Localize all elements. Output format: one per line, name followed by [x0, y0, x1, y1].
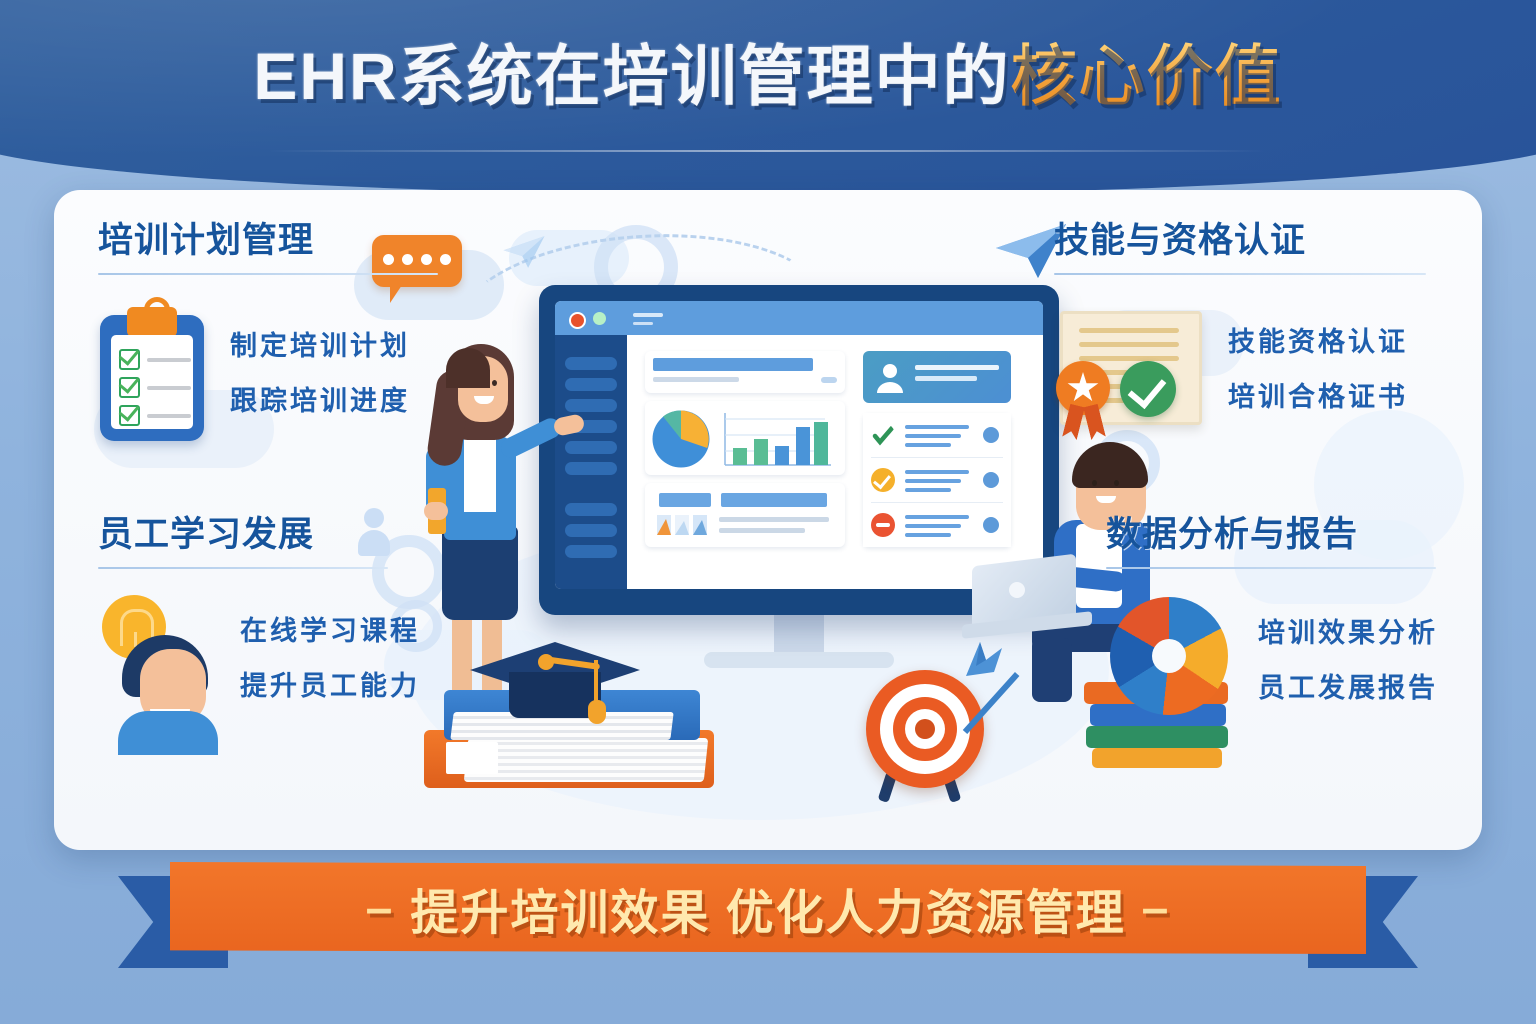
checkbox-checked-icon — [119, 349, 140, 370]
clipboard-line — [147, 358, 191, 362]
award-rosette-icon — [1056, 361, 1110, 415]
thumbnail-icon — [657, 515, 709, 537]
window-dot-close[interactable] — [569, 312, 586, 329]
section-data-analysis: 数据分析与报告 培训效果分析 员工发展报告 — [1106, 506, 1482, 723]
bar-chart — [721, 411, 833, 467]
certificate-line — [1079, 328, 1179, 333]
clipboard-paper — [111, 335, 193, 429]
section-divider — [1106, 567, 1436, 569]
section-bullets: 在线学习课程 提升员工能力 — [240, 609, 420, 703]
row-status-dot — [983, 517, 999, 533]
certificate-line — [1079, 356, 1179, 361]
row-status-dot — [983, 472, 999, 488]
ribbon-dash-left: – — [366, 881, 395, 936]
sidebar-nav-item[interactable] — [565, 399, 617, 412]
dashboard-media-panel — [645, 483, 845, 547]
sidebar-nav-item[interactable] — [565, 524, 617, 537]
section-title: 培训计划管理 — [98, 212, 478, 263]
dashboard-screen — [555, 301, 1043, 589]
section-divider — [98, 567, 388, 569]
clipboard-icon — [100, 315, 204, 441]
target-group — [854, 660, 1014, 830]
sidebar-nav-item[interactable] — [565, 378, 617, 391]
bottom-banner: – 提升培训效果 优化人力资源管理 – — [118, 862, 1418, 968]
page-title-highlight: 核心价值 — [1011, 42, 1283, 111]
section-divider — [98, 273, 438, 275]
clipboard-line — [147, 386, 191, 390]
ribbon-text: 提升培训效果 优化人力资源管理 — [410, 873, 1125, 943]
dashboard-charts-panel — [645, 401, 845, 475]
page-title-main: EHR系统在培训管理中的 — [253, 42, 1010, 111]
section-title: 员工学习发展 — [98, 506, 478, 557]
infographic-canvas: EHR系统在培训管理中的核心价值 — [0, 0, 1536, 1024]
bullet-item: 制定培训计划 — [230, 324, 410, 363]
sidebar-nav-item[interactable] — [565, 462, 617, 475]
graduation-cap-tassel-end — [588, 700, 606, 724]
section-divider — [1054, 273, 1426, 275]
clipboard-line — [147, 414, 191, 418]
status-row[interactable] — [863, 503, 1011, 547]
donut-chart-icon — [1110, 597, 1228, 715]
clipboard-checkbox-row — [119, 405, 191, 426]
dashboard-profile-card — [863, 351, 1011, 403]
ribbon-dash-right: – — [1142, 881, 1171, 936]
section-employee-development: 员工学习发展 在线学习课程 提升员工能力 — [98, 506, 478, 753]
window-dot-minimize[interactable] — [593, 312, 606, 325]
status-row[interactable] — [863, 413, 1011, 457]
bullet-item: 在线学习课程 — [240, 609, 420, 648]
clipboard-clip — [127, 307, 177, 337]
section-bullets: 制定培训计划 跟踪培训进度 — [230, 324, 410, 418]
bullet-item: 培训合格证书 — [1228, 375, 1408, 414]
dashboard-sidebar — [555, 335, 627, 589]
sidebar-nav-item[interactable] — [565, 503, 617, 516]
section-training-plan: 培训计划管理 制定培训计划 跟踪培训进度 — [98, 212, 478, 441]
dashboard-content — [627, 335, 1043, 589]
dashboard-header-panel — [645, 351, 845, 393]
sidebar-nav-item[interactable] — [565, 545, 617, 558]
lightbulb-person-icon — [98, 593, 218, 743]
section-bullets: 技能资格认证 培训合格证书 — [1228, 320, 1408, 414]
content-card: 培训计划管理 制定培训计划 跟踪培训进度 — [54, 190, 1482, 850]
hamburger-icon[interactable] — [633, 313, 663, 317]
paper-plane-icon — [502, 235, 546, 269]
dashboard-status-list — [863, 413, 1011, 547]
check-green-icon — [871, 423, 895, 447]
section-bullets: 培训效果分析 员工发展报告 — [1258, 611, 1438, 705]
clipboard-checkbox-row — [119, 349, 191, 370]
donut-hole — [1152, 639, 1186, 673]
section-skill-certification: 技能与资格认证 — [1054, 212, 1454, 433]
bullet-item: 技能资格认证 — [1228, 320, 1408, 359]
arrow-fletching-icon — [958, 636, 1008, 684]
avatar — [872, 359, 908, 395]
hamburger-icon-line — [633, 322, 653, 325]
minus-red-icon — [871, 513, 895, 537]
section-title: 技能与资格认证 — [1054, 212, 1454, 263]
bullet-item: 培训效果分析 — [1258, 611, 1438, 650]
bullet-item: 员工发展报告 — [1258, 666, 1438, 705]
star-icon — [1067, 372, 1099, 404]
section-title: 数据分析与报告 — [1106, 506, 1482, 557]
bullet-item: 跟踪培训进度 — [230, 379, 410, 418]
bullet-item: 提升员工能力 — [240, 664, 420, 703]
person-shirt — [118, 711, 218, 755]
book-orange-pages — [464, 738, 709, 782]
check-amber-icon — [871, 468, 895, 492]
monitor-stand-neck — [774, 614, 824, 654]
certificate-line — [1079, 342, 1179, 347]
sidebar-nav-item[interactable] — [565, 441, 617, 454]
checkbox-checked-icon — [119, 377, 140, 398]
verified-check-icon — [1120, 361, 1176, 417]
title-divider — [268, 150, 1268, 152]
ribbon-text-group: – 提升培训效果 优化人力资源管理 – — [118, 862, 1418, 954]
status-row[interactable] — [863, 458, 1011, 502]
clipboard-checkbox-row — [119, 377, 191, 398]
checkbox-checked-icon — [119, 405, 140, 426]
sidebar-nav-item[interactable] — [565, 357, 617, 370]
window-titlebar — [555, 301, 1043, 335]
row-status-dot — [983, 427, 999, 443]
pie-chart — [651, 409, 711, 469]
page-title: EHR系统在培训管理中的核心价值 — [0, 42, 1536, 111]
